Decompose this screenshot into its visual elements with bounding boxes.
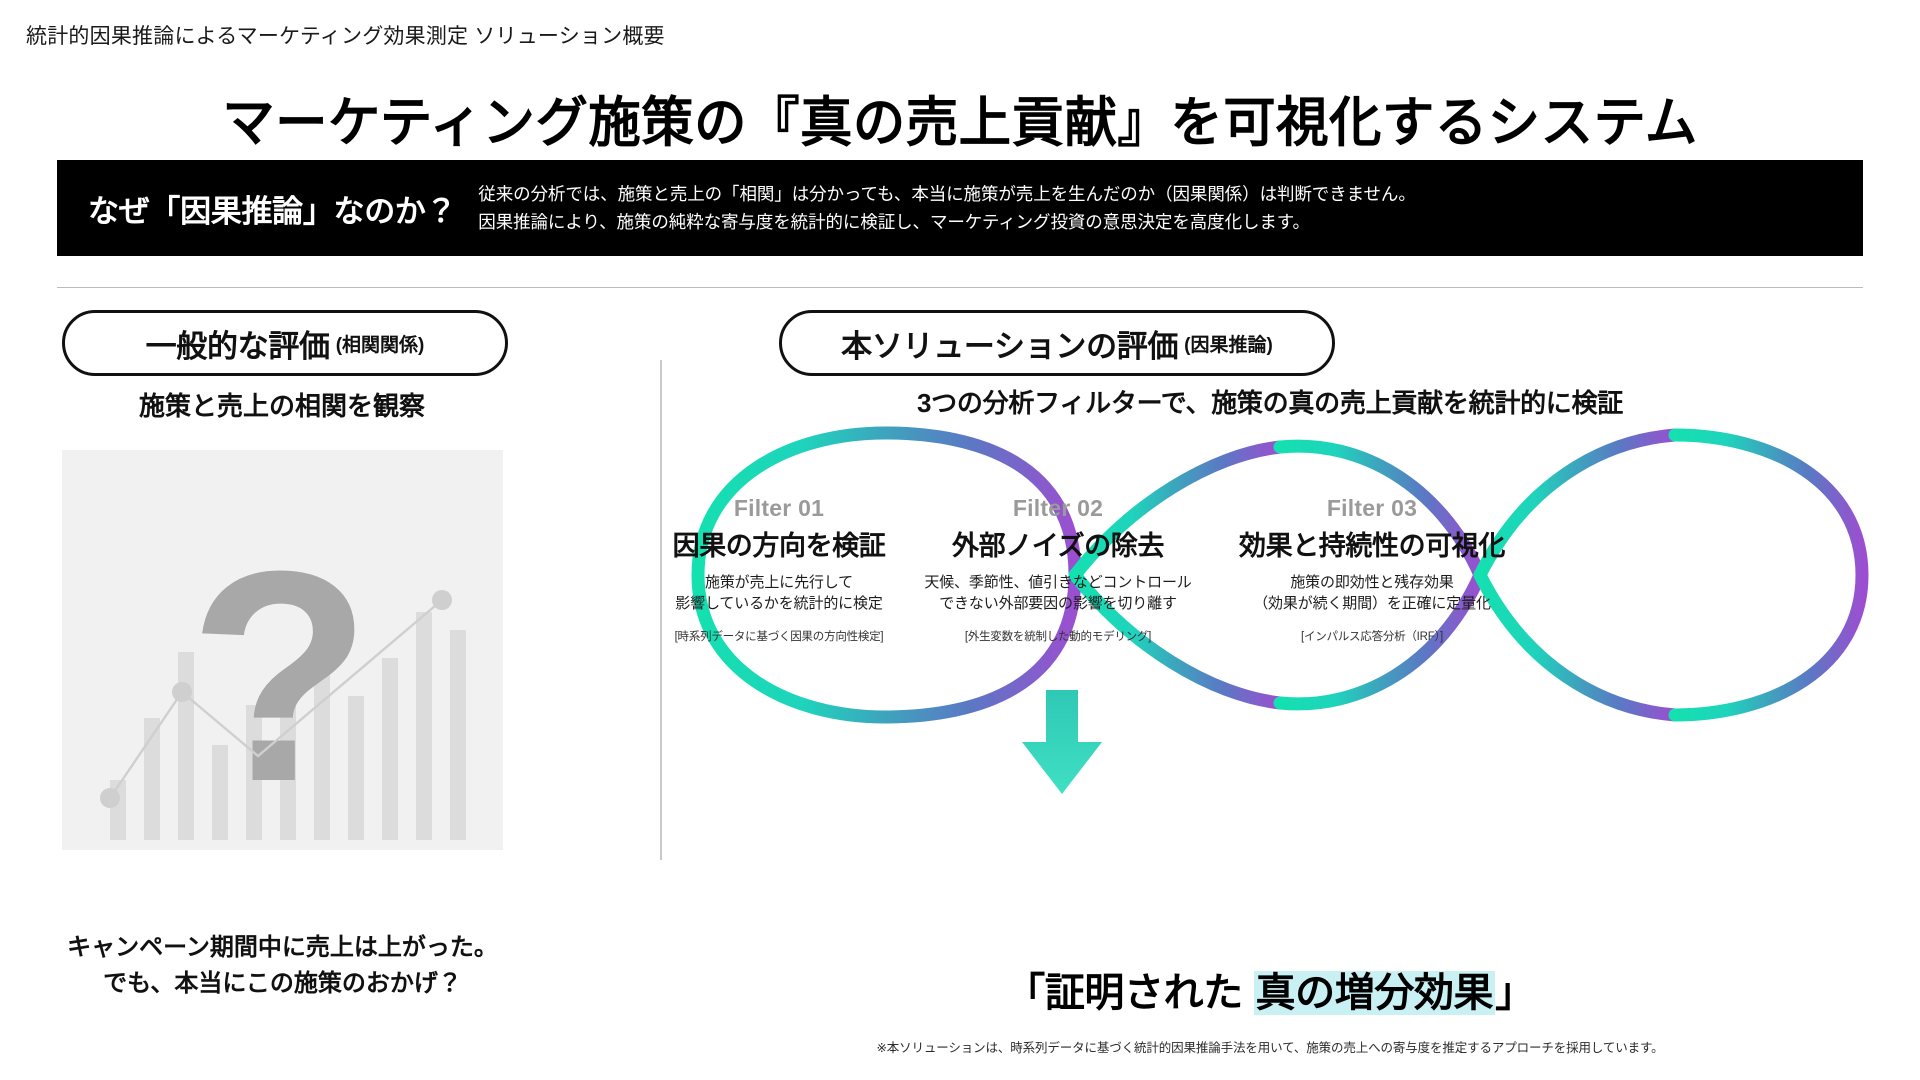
right-pill-main-label: 本ソリューションの評価 xyxy=(841,321,1178,366)
filter-block-03: Filter 03 効果と持続性の可視化 施策の即効性と残存効果 （効果が続く期… xyxy=(1222,495,1522,644)
slide-root: 統計的因果推論によるマーケティング効果測定 ソリューション概要 マーケティング施… xyxy=(0,0,1920,1080)
bar-chart-with-question-mark-icon: ? xyxy=(62,450,503,850)
filter-02-desc-line-1: 天候、季節性、値引きなどコントロール xyxy=(908,573,1208,594)
filter-03-tag: [インパルス応答分析（IRF）] xyxy=(1222,628,1522,644)
banner-question: なぜ「因果推論」なのか？ xyxy=(57,186,478,231)
down-arrow-icon xyxy=(1002,690,1122,800)
right-panel-pill: 本ソリューションの評価 (因果推論) xyxy=(779,310,1335,376)
banner-line-2: 因果推論により、施策の純粋な寄与度を統計的に検証し、マーケティング投資の意思決定… xyxy=(478,208,1847,236)
filter-01-description: 施策が売上に先行して 影響しているかを統計的に検定 xyxy=(629,573,929,614)
conclusion-prefix: 「証明された xyxy=(1005,971,1253,1015)
left-subheading: 施策と売上の相関を観察 xyxy=(62,386,502,423)
filter-01-tag: [時系列データに基づく因果の方向性検定] xyxy=(629,628,929,644)
filter-03-desc-line-1: 施策の即効性と残存効果 xyxy=(1222,573,1522,594)
svg-text:?: ? xyxy=(188,508,371,844)
filter-02-tag: [外生変数を統制した動的モデリング] xyxy=(908,628,1208,644)
filter-02-kicker: Filter 02 xyxy=(908,495,1208,522)
right-subheading: 3つの分析フィルターで、施策の真の売上貢献を統計的に検証 xyxy=(680,383,1860,420)
conclusion-statement: 「証明された 真の増分効果」 xyxy=(680,960,1860,1018)
horizontal-divider xyxy=(57,287,1863,288)
filter-block-02: Filter 02 外部ノイズの除去 天候、季節性、値引きなどコントロール でき… xyxy=(908,495,1208,644)
why-causal-banner: なぜ「因果推論」なのか？ 従来の分析では、施策と売上の「相関」は分かっても、本当… xyxy=(57,160,1863,256)
footnote: ※本ソリューションは、時系列データに基づく統計的因果推論手法を用いて、施策の売上… xyxy=(680,1037,1860,1056)
conclusion-highlight: 真の増分効果 xyxy=(1254,971,1496,1015)
filter-01-desc-line-1: 施策が売上に先行して xyxy=(629,573,929,594)
down-arrow-wrap xyxy=(1002,690,1122,805)
correlation-graphic: ? xyxy=(62,450,503,850)
filter-03-description: 施策の即効性と残存効果 （効果が続く期間）を正確に定量化 xyxy=(1222,573,1522,614)
filter-02-description: 天候、季節性、値引きなどコントロール できない外部要因の影響を切り離す xyxy=(908,573,1208,614)
filter-02-title: 外部ノイズの除去 xyxy=(908,524,1208,563)
page-title: マーケティング施策の『真の売上貢献』を可視化するシステム xyxy=(29,78,1891,157)
question-mark-glyph: ? xyxy=(188,508,371,844)
filter-01-kicker: Filter 01 xyxy=(629,495,929,522)
filter-block-01: Filter 01 因果の方向を検証 施策が売上に先行して 影響しているかを統計… xyxy=(629,495,929,644)
left-pill-main-label: 一般的な評価 xyxy=(146,321,330,366)
eyebrow-label: 統計的因果推論によるマーケティング効果測定 ソリューション概要 xyxy=(26,20,665,50)
filter-01-desc-line-2: 影響しているかを統計的に検定 xyxy=(629,594,929,615)
left-caption-line-1: キャンペーン期間中に売上は上がった。 xyxy=(62,930,503,966)
conclusion-suffix: 」 xyxy=(1495,971,1535,1015)
filter-03-title: 効果と持続性の可視化 xyxy=(1222,524,1522,563)
banner-line-1: 従来の分析では、施策と売上の「相関」は分かっても、本当に施策が売上を生んだのか（… xyxy=(478,180,1847,208)
filter-02-desc-line-2: できない外部要因の影響を切り離す xyxy=(908,594,1208,615)
filter-01-title: 因果の方向を検証 xyxy=(629,524,929,563)
left-caption-line-2: でも、本当にこの施策のおかげ？ xyxy=(62,966,503,1002)
left-caption: キャンペーン期間中に売上は上がった。 でも、本当にこの施策のおかげ？ xyxy=(62,930,503,1002)
left-pill-sub-label: (相関関係) xyxy=(336,330,425,357)
filter-03-kicker: Filter 03 xyxy=(1222,495,1522,522)
banner-body: 従来の分析では、施策と売上の「相関」は分かっても、本当に施策が売上を生んだのか（… xyxy=(478,180,1863,237)
filter-03-desc-line-2: （効果が続く期間）を正確に定量化 xyxy=(1222,594,1522,615)
right-pill-sub-label: (因果推論) xyxy=(1184,330,1273,357)
left-panel-pill: 一般的な評価 (相関関係) xyxy=(62,310,508,376)
